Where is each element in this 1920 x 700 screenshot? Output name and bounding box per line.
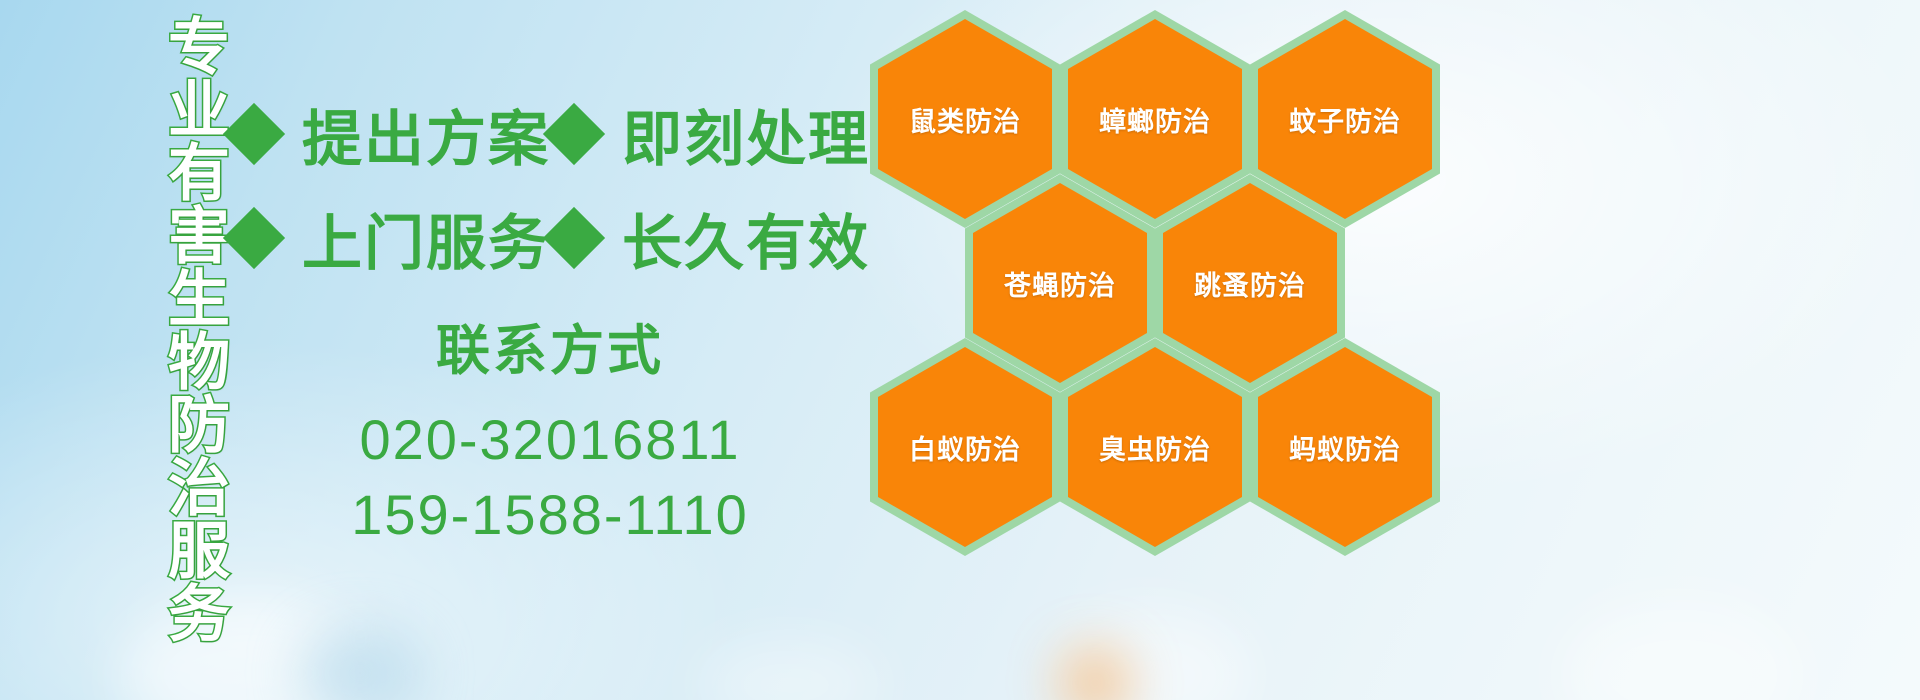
background-blob xyxy=(300,628,420,700)
contact-block: 联系方式 020-32016811 159-1588-1110 xyxy=(300,318,800,553)
diamond-icon xyxy=(223,103,285,165)
hex-label: 白蚁防治 xyxy=(909,428,1021,467)
background-blob xyxy=(1060,648,1130,700)
hex-label: 臭虫防治 xyxy=(1099,428,1211,467)
diamond-icon xyxy=(543,207,605,269)
diamond-icon xyxy=(223,207,285,269)
feature-row: 提出方案 即刻处理 xyxy=(232,82,872,186)
background-blob xyxy=(1050,610,1250,700)
hex-label: 蚂蚁防治 xyxy=(1289,428,1401,467)
feature-label: 提出方案 xyxy=(302,91,550,178)
hex-label: 鼠类防治 xyxy=(909,100,1021,139)
contact-title: 联系方式 xyxy=(300,318,800,386)
contact-phone-mobile[interactable]: 159-1588-1110 xyxy=(300,477,800,553)
pest-control-banner: 专业有害生物防治服务 提出方案 即刻处理 上门服务 长久有效 联系方式 0 xyxy=(0,0,1920,700)
feature-label: 上门服务 xyxy=(302,195,550,282)
hex-label: 蚊子防治 xyxy=(1289,100,1401,139)
contact-phone-landline[interactable]: 020-32016811 xyxy=(300,402,800,478)
hex-label: 蟑螂防治 xyxy=(1099,100,1211,139)
feature-item: 即刻处理 xyxy=(552,91,872,178)
feature-item: 长久有效 xyxy=(552,195,872,282)
feature-list: 提出方案 即刻处理 上门服务 长久有效 xyxy=(232,82,872,290)
feature-row: 上门服务 长久有效 xyxy=(232,186,872,290)
vertical-headline: 专业有害生物防治服务 xyxy=(112,14,224,574)
hex-label: 跳蚤防治 xyxy=(1194,264,1306,303)
service-honeycomb: 鼠类防治 蟑螂防治 蚊子防治 苍蝇防治 跳蚤防治 白蚁防治 臭虫防治 xyxy=(862,0,1462,560)
hex-label: 苍蝇防治 xyxy=(1004,264,1116,303)
diamond-icon xyxy=(543,103,605,165)
feature-item: 提出方案 xyxy=(232,91,552,178)
feature-item: 上门服务 xyxy=(232,195,552,282)
background-blob xyxy=(1560,600,1800,700)
background-blob xyxy=(700,640,880,700)
feature-label: 长久有效 xyxy=(622,195,870,282)
feature-label: 即刻处理 xyxy=(622,91,870,178)
